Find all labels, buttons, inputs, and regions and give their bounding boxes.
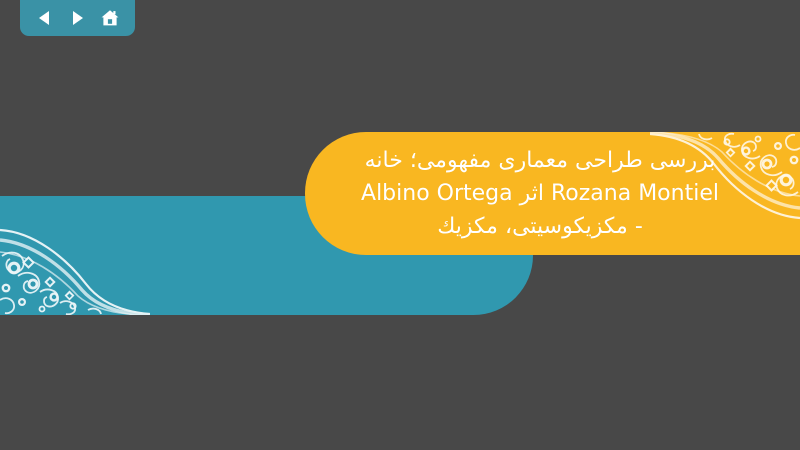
previous-button[interactable] [32, 5, 58, 31]
arabesque-ornament [650, 132, 800, 255]
next-button[interactable] [64, 5, 90, 31]
navigation-bar [20, 0, 135, 36]
arabesque-ornament [0, 196, 150, 315]
home-button[interactable] [97, 5, 123, 31]
yellow-band [305, 132, 800, 255]
triangle-right-icon [68, 9, 86, 27]
triangle-left-icon [36, 9, 54, 27]
home-icon [100, 8, 120, 28]
slide-canvas: بررسی طراحی معماری مفهومی؛ خانه Rozana M… [0, 0, 800, 450]
